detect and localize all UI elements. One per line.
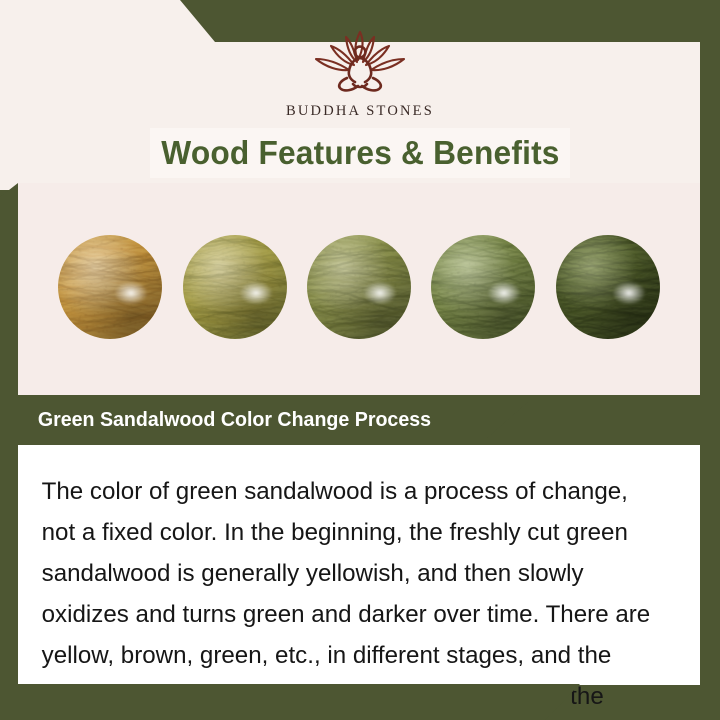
lotus-meditation-icon — [285, 26, 435, 98]
bead-highlight — [363, 281, 397, 305]
body-panel: The color of green sandalwood is a proce… — [18, 445, 700, 685]
right-green-rail — [700, 0, 720, 720]
section-heading-band: Green Sandalwood Color Change Process — [18, 402, 528, 438]
section-heading: Green Sandalwood Color Change Process — [22, 409, 431, 432]
bead-shading — [58, 235, 162, 339]
bottom-green-band — [0, 684, 580, 720]
page-title: Wood Features & Benefits — [161, 134, 559, 172]
bead-highlight — [114, 281, 148, 305]
brand-logo: BUDDHA STONES — [0, 26, 720, 120]
bead-stage-2 — [183, 235, 287, 339]
bead-color-stages — [18, 232, 700, 342]
brand-name: BUDDHA STONES — [286, 103, 434, 120]
poster-root: BUDDHA STONES Wood Features & Benefits — [0, 0, 720, 720]
bead-stage-1 — [58, 235, 162, 339]
bead-highlight — [487, 281, 521, 305]
bead-stage-4 — [431, 235, 535, 339]
left-green-rail — [0, 183, 18, 720]
bead-shading — [431, 235, 535, 339]
bead-stage-3 — [307, 235, 411, 339]
bead-highlight — [612, 281, 646, 305]
body-paragraph: The color of green sandalwood is a proce… — [18, 445, 690, 720]
page-title-band: Wood Features & Benefits — [150, 128, 570, 178]
bead-stage-5 — [556, 235, 660, 339]
bead-highlight — [239, 281, 273, 305]
